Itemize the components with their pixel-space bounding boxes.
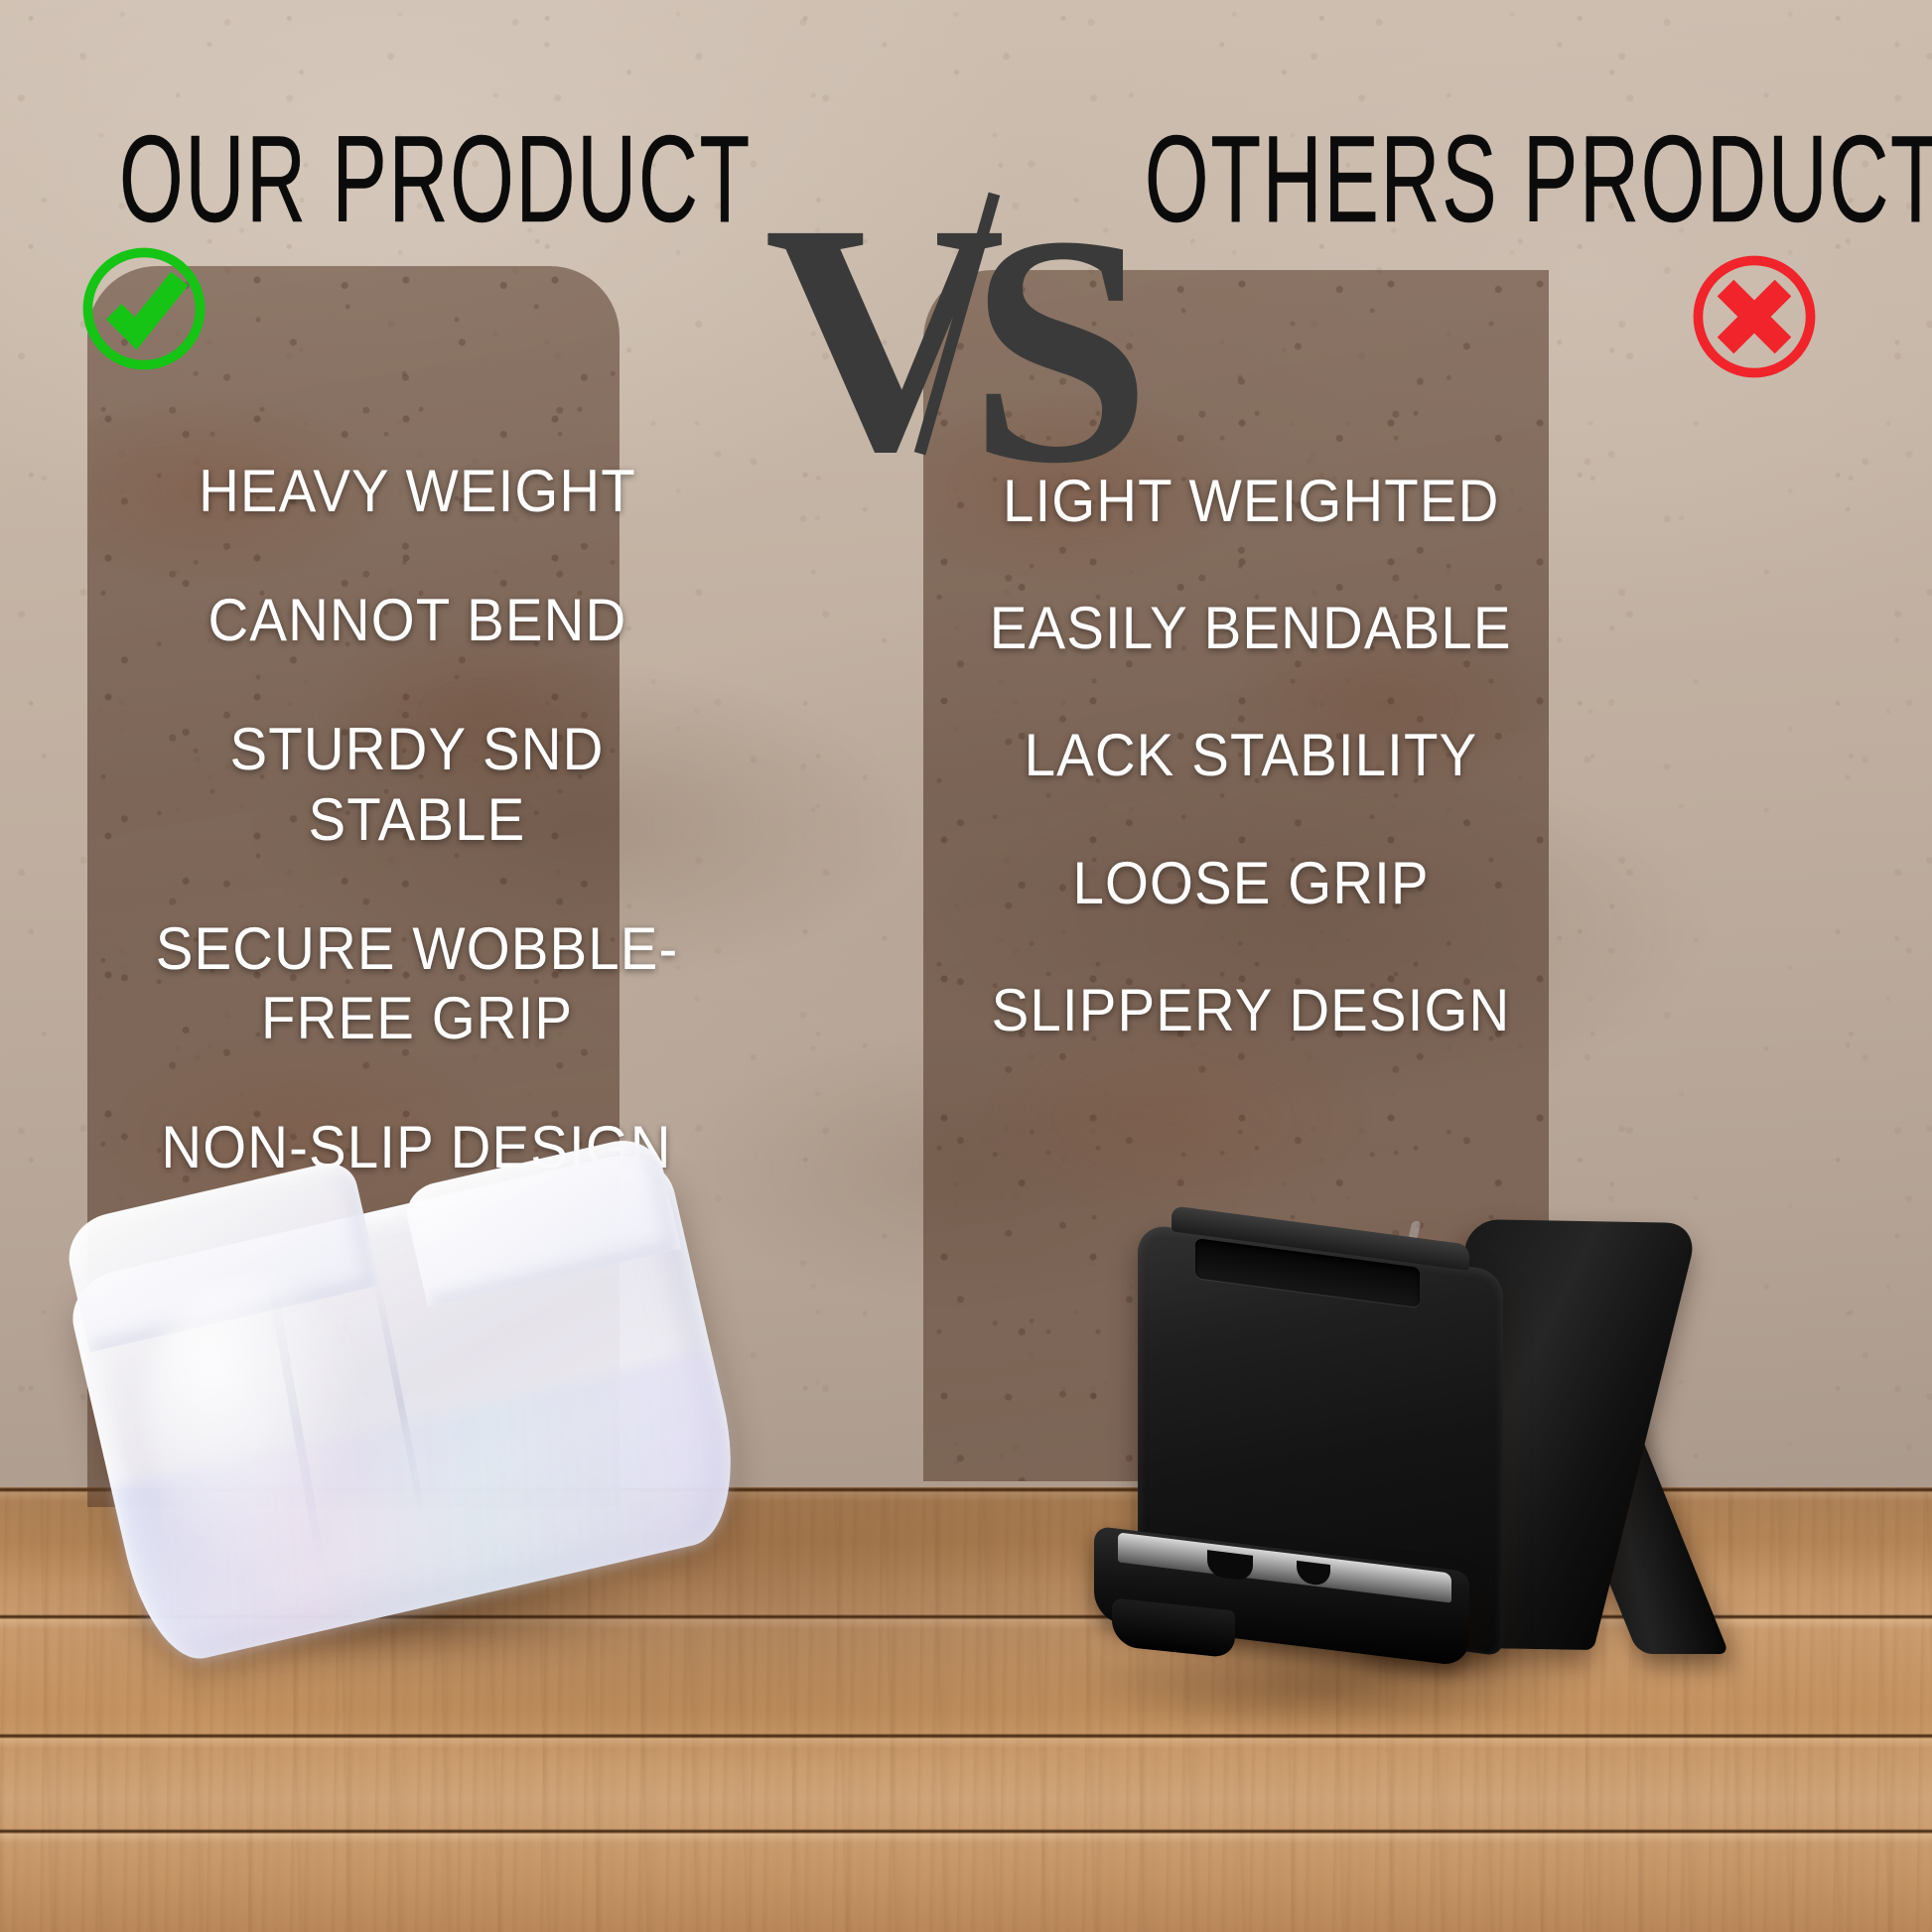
cross-circle-icon	[1686, 248, 1823, 385]
feature-item: LACK STABILITY	[1025, 721, 1478, 790]
feature-item: EASILY BENDABLE	[990, 594, 1512, 663]
check-circle-icon	[75, 240, 212, 377]
feature-list-others: LIGHT WEIGHTED EASILY BENDABLE LACK STAB…	[933, 467, 1569, 1103]
feature-item: LOOSE GRIP	[1072, 849, 1429, 918]
feature-item: HEAVY WEIGHT	[199, 457, 636, 526]
feature-item: STURDY SND STABLE	[128, 715, 707, 854]
page-title-others-product: OTHERS PRODUCT	[1144, 109, 1932, 251]
comparison-infographic: OUR PRODUCT OTHERS PRODUCT V S HEAVY WEI…	[0, 0, 1932, 1932]
feature-item: SECURE WOBBLE- FREE GRIP	[156, 914, 679, 1053]
feature-item: CANNOT BEND	[207, 586, 626, 655]
page-title-our-product: OUR PRODUCT	[119, 109, 752, 251]
feature-item: LIGHT WEIGHTED	[1003, 467, 1499, 536]
product-image-black-folding-stand	[1112, 1209, 1727, 1666]
feature-item: SLIPPERY DESIGN	[992, 976, 1511, 1045]
